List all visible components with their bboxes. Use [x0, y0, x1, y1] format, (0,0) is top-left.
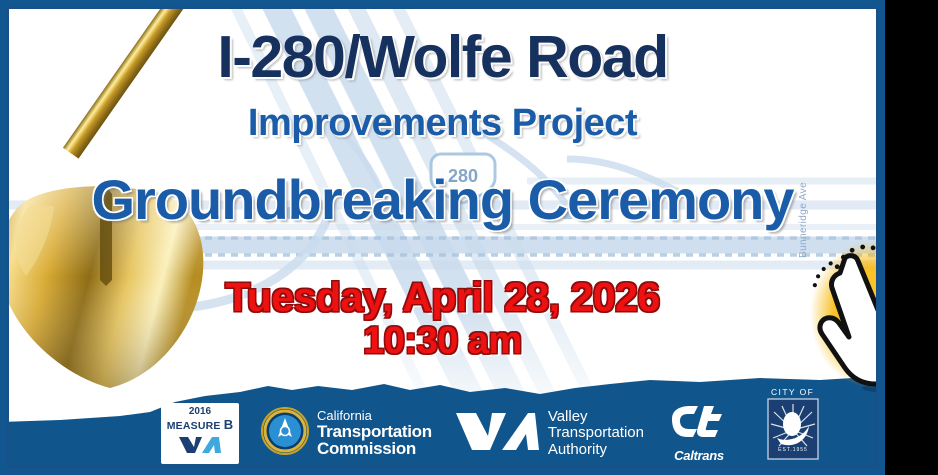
gold-shovel-graphic — [0, 0, 290, 410]
caltrans-ct-icon — [668, 405, 730, 446]
logo-caltrans: Caltrans — [668, 405, 730, 463]
vta-wordmark: Valley Transportation Authority — [548, 409, 644, 459]
pointing-hand-cursor-icon[interactable] — [800, 228, 885, 400]
caltrans-wordmark: Caltrans — [674, 448, 724, 463]
measure-b-word: MEASURE B — [167, 418, 234, 432]
logo-row: 2016 MEASURE B — [0, 392, 885, 475]
vta-chevron-icon — [178, 435, 222, 460]
svg-text:280: 280 — [448, 166, 478, 186]
cupertino-seal-icon: EST.1955 — [767, 398, 819, 465]
cupertino-est-text: EST.1955 — [778, 447, 808, 453]
cupertino-bottom-text: CUPERTINO — [752, 467, 833, 475]
sponsor-logo-bar: 2016 MEASURE B — [0, 370, 885, 475]
ctc-seal-icon — [261, 407, 309, 460]
ctc-wordmark: California Transportation Commission — [317, 409, 432, 458]
flyer-stage: 280 Bunneridge Ave — [0, 0, 938, 475]
logo-measure-b: 2016 MEASURE B — [161, 403, 239, 464]
measure-b-year: 2016 — [189, 407, 211, 417]
flyer-card: 280 Bunneridge Ave — [0, 0, 885, 475]
vta-logo-icon — [454, 408, 540, 459]
logo-vta: Valley Transportation Authority — [454, 408, 644, 459]
logo-ctc: California Transportation Commission — [261, 407, 432, 460]
